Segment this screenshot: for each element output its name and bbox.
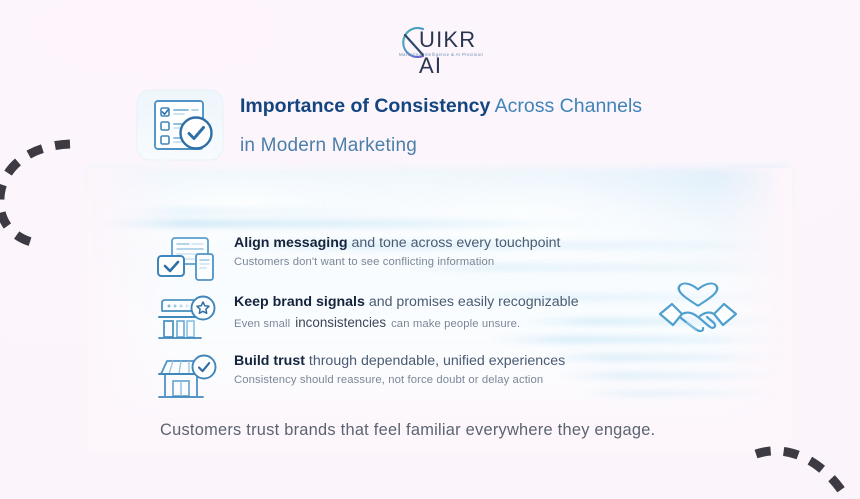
storefront-check-icon: [156, 354, 218, 400]
logo-tagline: Marketing Intelligence & AI Precision: [399, 52, 483, 57]
list-item-title-rest: and tone across every touchpoint: [348, 235, 561, 251]
title-rest: Across Channels: [490, 95, 642, 117]
subtitle-prefix: Even small: [234, 318, 290, 330]
title-bold: Importance of Consistency: [240, 95, 490, 117]
handshake-heart-icon: [657, 278, 739, 340]
subtitle-emphasis: inconsistencies: [290, 315, 391, 330]
list-item-title-rest: through dependable, unified experiences: [305, 353, 565, 369]
list-item-title: Align messaging and tone across every to…: [234, 234, 694, 253]
logo[interactable]: UIKR AI Marketing Intelligence & AI Prec…: [383, 22, 488, 66]
subtitle-suffix: can make people unsure.: [391, 318, 520, 330]
list-item-title: Keep brand signals and promises easily r…: [234, 293, 694, 312]
list-item-title-bold: Align messaging: [234, 235, 348, 251]
list-item-subtitle: Consistency should reassure, not force d…: [234, 374, 694, 386]
list-item-title-bold: Build trust: [234, 353, 305, 369]
list-item-title-bold: Keep brand signals: [234, 294, 365, 310]
list-item[interactable]: Build trust through dependable, unified …: [156, 352, 696, 411]
list-item-text: Build trust through dependable, unified …: [234, 352, 694, 386]
title-line-2: in Modern Marketing: [240, 135, 800, 157]
list-item-text: Keep brand signals and promises easily r…: [234, 293, 694, 330]
list-item-title: Build trust through dependable, unified …: [234, 352, 694, 371]
devices-check-icon: [156, 236, 218, 282]
title-line-1: Importance of Consistency Across Channel…: [240, 96, 800, 117]
page-title: Importance of Consistency Across Channel…: [240, 96, 800, 157]
list-item-subtitle: Even smallinconsistenciescan make people…: [234, 315, 694, 330]
list-item[interactable]: Keep brand signals and promises easily r…: [156, 293, 696, 352]
list-item-title-rest: and promises easily recognizable: [365, 294, 579, 310]
storefront-star-icon: [156, 295, 218, 341]
dashed-arc-left: [0, 132, 88, 248]
footer-statement: Customers trust brands that feel familia…: [160, 421, 655, 440]
list-item-text: Align messaging and tone across every to…: [234, 234, 694, 268]
slide-canvas: UIKR AI Marketing Intelligence & AI Prec…: [0, 0, 860, 499]
list-item[interactable]: Align messaging and tone across every to…: [156, 234, 696, 293]
dashed-arc-bottom-right: [752, 430, 860, 499]
checklist-clipboard-icon: [136, 89, 228, 171]
list-item-subtitle: Customers don't want to see conflicting …: [234, 256, 694, 268]
points-list: Align messaging and tone across every to…: [156, 234, 696, 411]
